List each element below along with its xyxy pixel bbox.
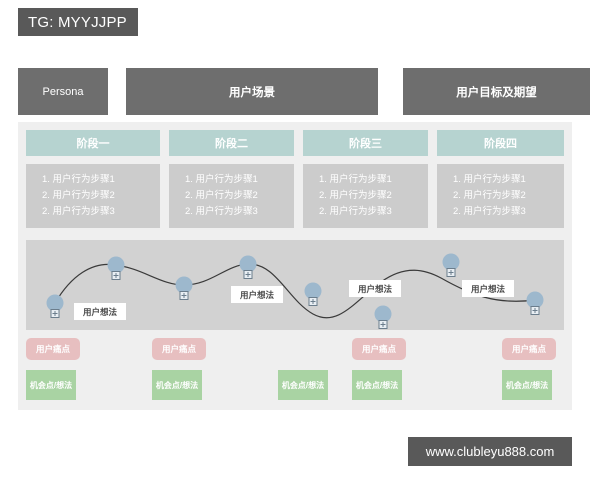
add-node-icon[interactable]	[531, 306, 540, 315]
stage-step-item: 2. 用户行为步骤3	[453, 204, 564, 220]
stage-step-item: 2. 用户行为步骤2	[453, 188, 564, 204]
stage-steps-3[interactable]: 1. 用户行为步骤12. 用户行为步骤22. 用户行为步骤3	[303, 164, 428, 228]
header-goal[interactable]: 用户目标及期望	[403, 68, 590, 115]
opportunity-label: 机会点/想法	[156, 380, 198, 391]
add-node-icon[interactable]	[309, 297, 318, 306]
user-thought-label-4[interactable]: 用户想法	[462, 280, 514, 297]
stage-header-2[interactable]: 阶段二	[169, 130, 294, 156]
stage-step-item: 1. 用户行为步骤1	[453, 172, 564, 188]
pain-point-1[interactable]: 用户痛点	[26, 338, 80, 360]
stage-header-row: 阶段一阶段二阶段三阶段四	[26, 130, 564, 156]
stage-step-item: 2. 用户行为步骤3	[185, 204, 294, 220]
journey-panel: 阶段一阶段二阶段三阶段四 1. 用户行为步骤12. 用户行为步骤22. 用户行为…	[18, 122, 572, 410]
add-node-icon[interactable]	[51, 309, 60, 318]
stage-step-item: 2. 用户行为步骤3	[319, 204, 428, 220]
stage-step-item: 1. 用户行为步骤1	[42, 172, 160, 188]
opportunity-5[interactable]: 机会点/想法	[502, 370, 552, 400]
stage-step-item: 2. 用户行为步骤2	[42, 188, 160, 204]
user-thought-text: 用户想法	[471, 283, 505, 295]
stage-header-label: 阶段四	[484, 135, 517, 151]
stage-header-label: 阶段二	[215, 135, 248, 151]
user-thought-text: 用户想法	[358, 283, 392, 295]
stage-header-1[interactable]: 阶段一	[26, 130, 160, 156]
opportunity-label: 机会点/想法	[506, 380, 548, 391]
add-node-icon[interactable]	[379, 320, 388, 329]
add-node-icon[interactable]	[112, 271, 121, 280]
opportunity-2[interactable]: 机会点/想法	[152, 370, 202, 400]
stage-step-item: 1. 用户行为步骤1	[185, 172, 294, 188]
user-thought-text: 用户想法	[83, 306, 117, 318]
pain-point-label: 用户痛点	[512, 343, 546, 355]
opportunity-3[interactable]: 机会点/想法	[278, 370, 328, 400]
user-thought-label-1[interactable]: 用户想法	[74, 303, 126, 320]
pain-point-2[interactable]: 用户痛点	[152, 338, 206, 360]
add-node-icon[interactable]	[447, 268, 456, 277]
add-node-icon[interactable]	[180, 291, 189, 300]
stage-header-label: 阶段一	[77, 135, 110, 151]
header-row: Persona用户场景用户目标及期望	[18, 68, 572, 115]
opportunity-4[interactable]: 机会点/想法	[352, 370, 402, 400]
pain-point-4[interactable]: 用户痛点	[502, 338, 556, 360]
watermark: www.clubleyu888.com	[408, 437, 572, 466]
stage-step-item: 2. 用户行为步骤2	[319, 188, 428, 204]
header-scene[interactable]: 用户场景	[126, 68, 378, 115]
stage-step-item: 2. 用户行为步骤3	[42, 204, 160, 220]
pain-point-3[interactable]: 用户痛点	[352, 338, 406, 360]
header-goal-label: 用户目标及期望	[456, 84, 537, 100]
stage-steps-4[interactable]: 1. 用户行为步骤12. 用户行为步骤22. 用户行为步骤3	[437, 164, 564, 228]
watermark-label: www.clubleyu888.com	[426, 444, 555, 459]
pain-point-label: 用户痛点	[362, 343, 396, 355]
opportunity-label: 机会点/想法	[356, 380, 398, 391]
stage-header-label: 阶段三	[349, 135, 382, 151]
opportunity-label: 机会点/想法	[30, 380, 72, 391]
stage-steps-2[interactable]: 1. 用户行为步骤12. 用户行为步骤22. 用户行为步骤3	[169, 164, 294, 228]
stage-header-3[interactable]: 阶段三	[303, 130, 428, 156]
user-thought-text: 用户想法	[240, 289, 274, 301]
pain-point-label: 用户痛点	[36, 343, 70, 355]
opportunity-1[interactable]: 机会点/想法	[26, 370, 76, 400]
user-thought-label-2[interactable]: 用户想法	[231, 286, 283, 303]
pain-point-label: 用户痛点	[162, 343, 196, 355]
header-persona-label: Persona	[43, 86, 84, 98]
stage-steps-1[interactable]: 1. 用户行为步骤12. 用户行为步骤22. 用户行为步骤3	[26, 164, 160, 228]
add-node-icon[interactable]	[244, 270, 253, 279]
tg-tag-label: TG: MYYJJPP	[28, 14, 127, 31]
stage-step-item: 2. 用户行为步骤2	[185, 188, 294, 204]
header-scene-label: 用户场景	[229, 84, 275, 100]
header-persona[interactable]: Persona	[18, 68, 108, 115]
stage-step-item: 1. 用户行为步骤1	[319, 172, 428, 188]
user-thought-label-3[interactable]: 用户想法	[349, 280, 401, 297]
emotion-curve-area: 用户想法用户想法用户想法用户想法	[26, 240, 564, 330]
stage-body-row: 1. 用户行为步骤12. 用户行为步骤22. 用户行为步骤31. 用户行为步骤1…	[26, 164, 564, 228]
tg-tag: TG: MYYJJPP	[18, 8, 138, 36]
opportunity-label: 机会点/想法	[282, 380, 324, 391]
stage-header-4[interactable]: 阶段四	[437, 130, 564, 156]
